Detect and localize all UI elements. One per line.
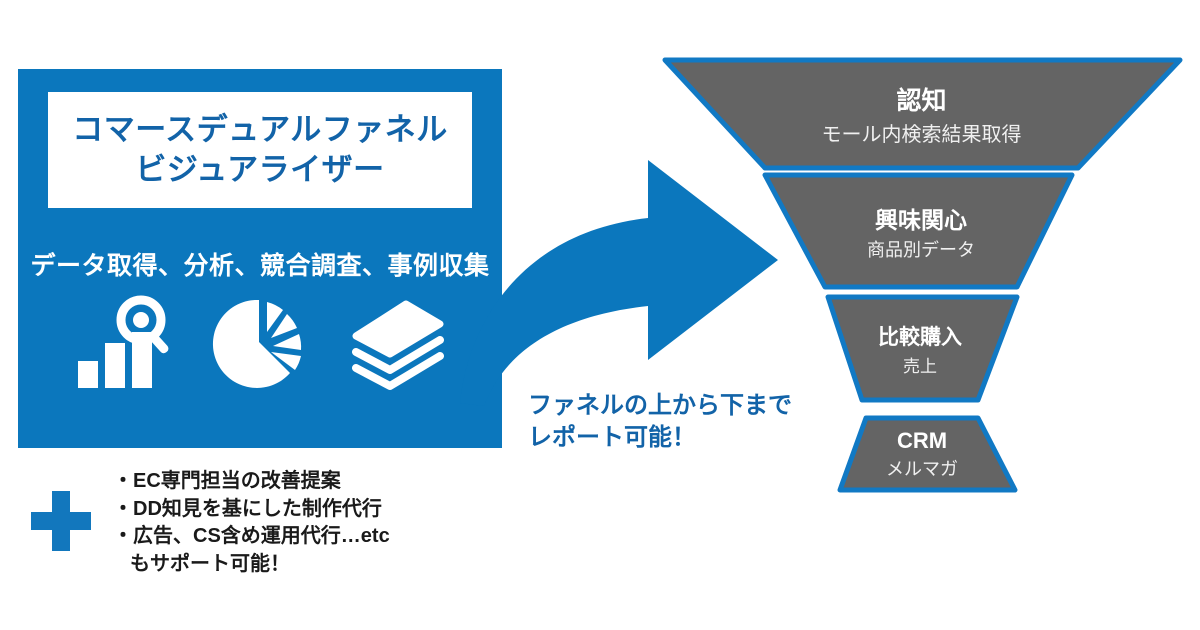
pie-chart-icon bbox=[211, 294, 311, 399]
product-summary-panel: コマースデュアルファネル ビジュアライザー データ取得、分析、競合調査、事例収集 bbox=[18, 69, 502, 448]
list-item-continuation: もサポート可能！ bbox=[113, 551, 533, 579]
funnel-shape-awareness bbox=[665, 60, 1180, 168]
infographic-canvas: コマースデュアルファネル ビジュアライザー データ取得、分析、競合調査、事例収集 bbox=[0, 0, 1200, 630]
funnel-shapes bbox=[640, 50, 1200, 510]
capability-icon-row bbox=[56, 291, 466, 401]
funnel-shape-comparison-purchase bbox=[828, 297, 1017, 400]
additional-services-list: ・EC専門担当の改善提案 ・DD知見を基にした制作代行 ・広告、CS含め運用代行… bbox=[113, 468, 533, 578]
funnel-shape-crm bbox=[840, 418, 1015, 490]
icon-slot-case-collection bbox=[339, 294, 457, 398]
conversion-funnel: 認知 モール内検索結果取得 興味関心 商品別データ 比較購入 売上 CRM メル… bbox=[640, 50, 1200, 510]
product-title-line-2: ビジュアライザー bbox=[135, 150, 384, 190]
product-title-line-1: コマースデュアルファネル bbox=[72, 110, 448, 150]
list-item: ・DD知見を基にした制作代行 bbox=[113, 496, 533, 524]
icon-slot-data-acquisition bbox=[65, 294, 183, 398]
funnel-shape-interest bbox=[765, 175, 1072, 287]
bar-chart-search-icon bbox=[72, 294, 176, 399]
plus-badge bbox=[31, 491, 91, 551]
plus-icon bbox=[31, 538, 91, 555]
stacked-books-icon bbox=[346, 294, 450, 399]
list-item: ・広告、CS含め運用代行…etc bbox=[113, 523, 533, 551]
icon-slot-analysis bbox=[202, 294, 320, 398]
product-subtitle: データ取得、分析、競合調査、事例収集 bbox=[18, 246, 502, 282]
list-item: ・EC専門担当の改善提案 bbox=[113, 468, 533, 496]
product-title-box: コマースデュアルファネル ビジュアライザー bbox=[48, 92, 472, 208]
